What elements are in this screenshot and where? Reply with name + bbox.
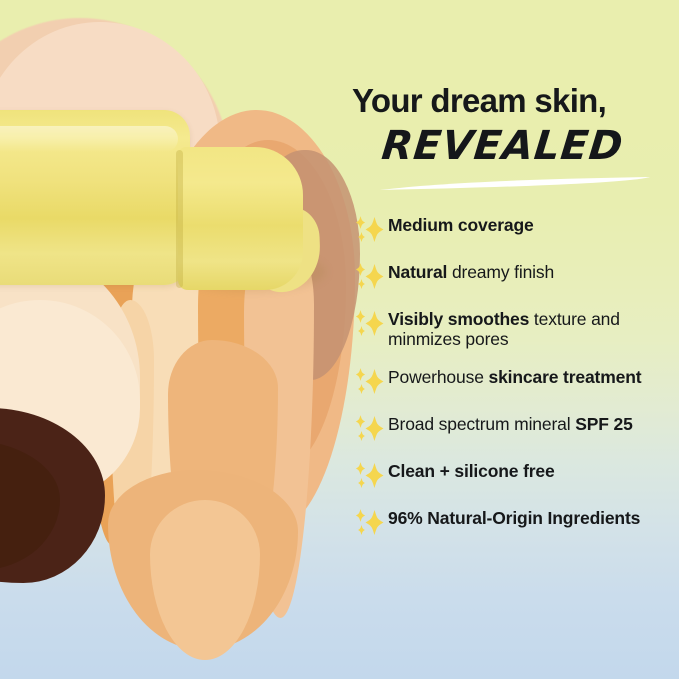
benefit-text-plain: Broad spectrum mineral bbox=[388, 414, 575, 434]
benefit-item: 96% Natural-Origin Ingredients bbox=[350, 507, 679, 538]
product-tube-seam bbox=[176, 150, 183, 288]
benefit-text-emphasis: SPF 25 bbox=[575, 414, 632, 434]
benefit-text-plain: Powerhouse bbox=[388, 367, 489, 387]
sparkle-icon bbox=[350, 309, 388, 339]
benefit-item: Natural dreamy finish bbox=[350, 261, 679, 292]
sparkle-icon bbox=[350, 367, 388, 397]
sparkle-icon bbox=[350, 508, 388, 538]
benefit-text-emphasis: Clean + silicone free bbox=[388, 461, 555, 481]
benefit-item: Powerhouse skincare treatment bbox=[350, 366, 679, 397]
benefit-text-emphasis: Visibly smoothes bbox=[388, 309, 529, 329]
product-benefits-poster: Your dream skin, REVEALED Medium coverag… bbox=[0, 0, 679, 679]
sparkle-icon bbox=[350, 215, 388, 245]
benefit-item-label: Powerhouse skincare treatment bbox=[388, 366, 679, 387]
benefit-text-emphasis: Medium coverage bbox=[388, 215, 534, 235]
benefits-list: Medium coverageNatural dreamy finishVisi… bbox=[350, 214, 679, 554]
sparkle-icon bbox=[350, 414, 388, 444]
headline-primary: Your dream skin, bbox=[352, 84, 606, 117]
brush-stroke-underline-icon bbox=[378, 176, 652, 192]
benefit-item-label: 96% Natural-Origin Ingredients bbox=[388, 507, 679, 528]
benefit-item: Visibly smoothes texture and minmizes po… bbox=[350, 308, 679, 350]
benefit-item: Medium coverage bbox=[350, 214, 679, 245]
product-tube-highlight bbox=[0, 126, 178, 152]
sparkle-icon bbox=[350, 414, 388, 444]
sparkle-icon bbox=[350, 262, 388, 292]
benefit-item-label: Visibly smoothes texture and minmizes po… bbox=[388, 308, 679, 350]
benefit-item: Broad spectrum mineral SPF 25 bbox=[350, 413, 679, 444]
product-tube-cap bbox=[178, 147, 303, 290]
benefit-item-label: Medium coverage bbox=[388, 214, 679, 235]
benefit-item-label: Natural dreamy finish bbox=[388, 261, 679, 282]
product-artwork bbox=[0, 0, 360, 679]
benefit-text-emphasis: skincare treatment bbox=[489, 367, 642, 387]
sparkle-icon bbox=[350, 215, 388, 245]
benefit-item-label: Clean + silicone free bbox=[388, 460, 679, 481]
benefit-text-plain: dreamy finish bbox=[447, 262, 554, 282]
content-column: Your dream skin, REVEALED Medium coverag… bbox=[350, 0, 679, 679]
sparkle-icon bbox=[350, 461, 388, 491]
benefit-item: Clean + silicone free bbox=[350, 460, 679, 491]
benefit-text-emphasis: Natural bbox=[388, 262, 447, 282]
sparkle-icon bbox=[350, 367, 388, 397]
sparkle-icon bbox=[350, 309, 388, 339]
sparkle-icon bbox=[350, 262, 388, 292]
sparkle-icon bbox=[350, 461, 388, 491]
benefit-text-emphasis: 96% Natural-Origin Ingredients bbox=[388, 508, 640, 528]
sparkle-icon bbox=[350, 508, 388, 538]
headline-secondary: REVEALED bbox=[380, 126, 626, 166]
benefit-item-label: Broad spectrum mineral SPF 25 bbox=[388, 413, 679, 434]
